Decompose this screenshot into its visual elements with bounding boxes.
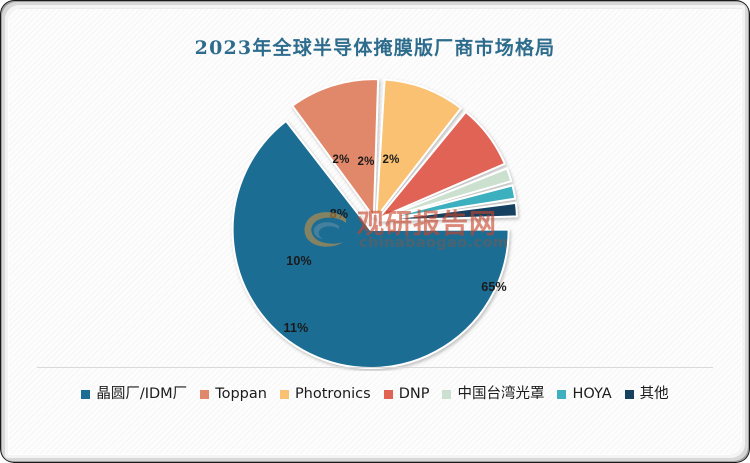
legend-item-label: Photronics [295, 387, 371, 402]
legend-item[interactable]: Toppan [200, 387, 267, 402]
chart-legend: 晶圆厂/IDM厂ToppanPhotronicsDNP中国台湾光罩HOYA其他 [9, 387, 741, 402]
legend-item-label: HOYA [572, 387, 611, 402]
legend-item[interactable]: DNP [384, 387, 430, 402]
legend-swatch-icon [442, 390, 451, 399]
pie-slice-label: 2% [382, 154, 399, 166]
legend-item[interactable]: Photronics [280, 387, 371, 402]
legend-item[interactable]: 中国台湾光罩 [442, 387, 544, 402]
legend-item-label: 其他 [640, 387, 669, 402]
pie-plot-area: 65%11%10%8%2%2%2% [9, 71, 741, 371]
legend-swatch-icon [280, 390, 289, 399]
pie-slice-label: 2% [332, 154, 349, 166]
legend-item-label: 晶圆厂/IDM厂 [96, 387, 187, 402]
pie-slice-label: 11% [284, 321, 309, 335]
legend-item-label: 中国台湾光罩 [457, 387, 544, 402]
legend-item-label: Toppan [215, 387, 267, 402]
legend-swatch-icon [81, 390, 90, 399]
pie-slice-label: 10% [286, 254, 312, 268]
pie-chart-svg [195, 71, 555, 371]
chart-canvas: 2023年全球半导体掩膜版厂商市场格局 65%11%10%8%2%2%2% 观研… [9, 9, 741, 454]
pie-slice-label: 65% [481, 280, 507, 294]
legend-separator [37, 367, 713, 368]
image-frame: 2023年全球半导体掩膜版厂商市场格局 65%11%10%8%2%2%2% 观研… [0, 0, 750, 463]
legend-item[interactable]: HOYA [557, 387, 611, 402]
legend-swatch-icon [200, 390, 209, 399]
page-title: 2023年全球半导体掩膜版厂商市场格局 [9, 33, 741, 60]
pie-slice-label: 8% [330, 207, 348, 221]
legend-swatch-icon [557, 390, 566, 399]
pie-slice-label: 2% [357, 156, 374, 168]
legend-swatch-icon [384, 390, 393, 399]
legend-item-label: DNP [399, 387, 430, 402]
legend-swatch-icon [625, 390, 634, 399]
legend-item[interactable]: 晶圆厂/IDM厂 [81, 387, 187, 402]
legend-item[interactable]: 其他 [625, 387, 669, 402]
